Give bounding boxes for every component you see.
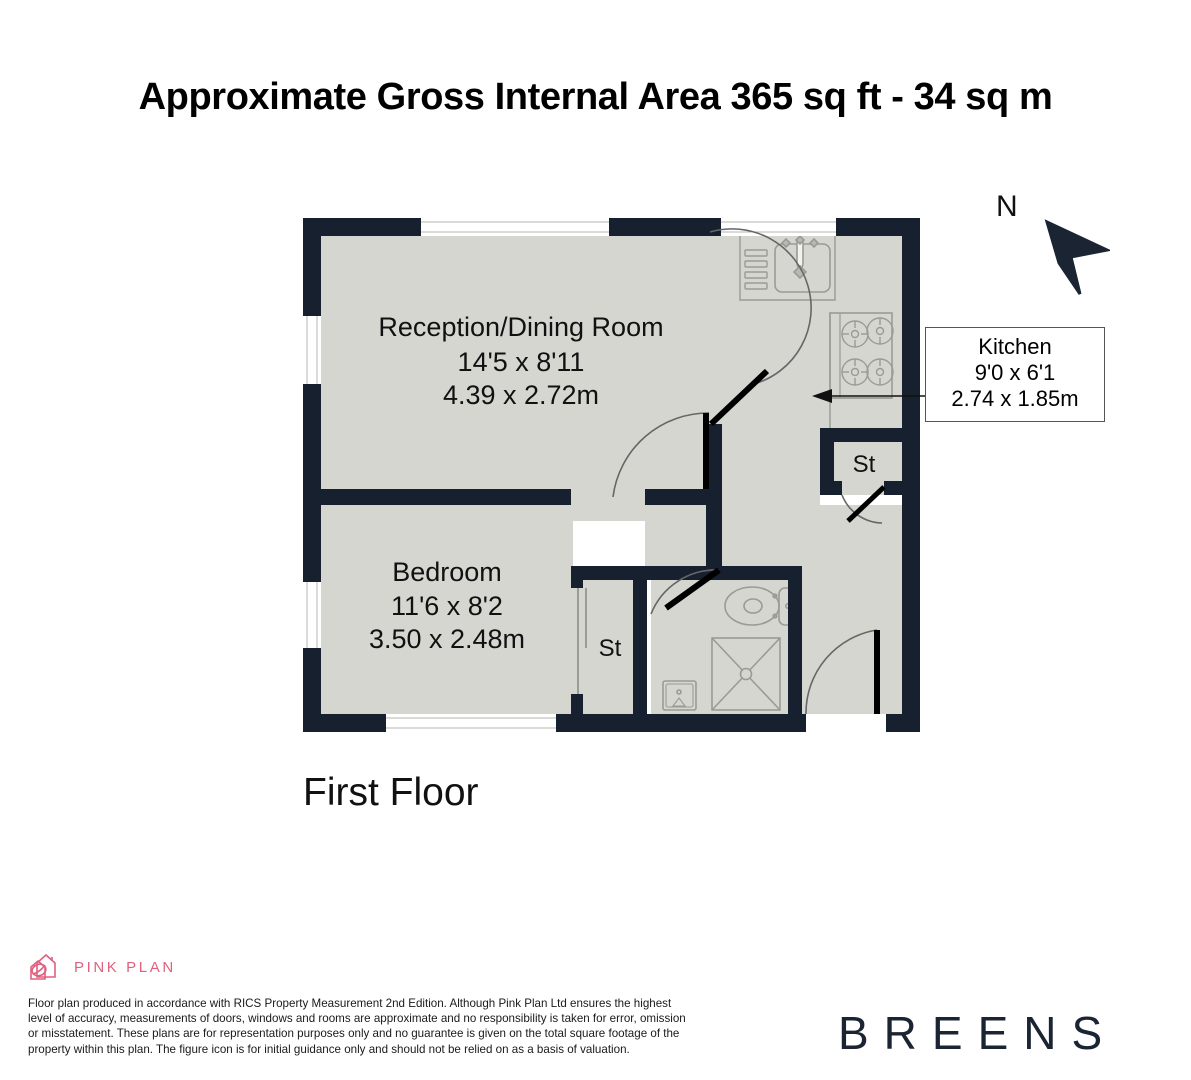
wall-st-upper-bottom-right xyxy=(884,481,920,495)
door-arc-bathroom xyxy=(651,570,719,614)
walls xyxy=(303,218,920,732)
entrance-lobby-floor xyxy=(801,505,919,714)
sink-drainer-icon xyxy=(745,250,767,289)
hob-unit xyxy=(830,313,892,398)
pink-plan-house-icon xyxy=(28,950,62,984)
wall-left-lower xyxy=(303,648,321,732)
shower-tray-icon xyxy=(712,638,780,710)
wall-st-lower-right xyxy=(633,566,647,716)
bedroom-floor xyxy=(321,505,573,714)
door-leaf-bathroom xyxy=(666,570,719,608)
window-reception-left xyxy=(303,316,321,384)
wall-top-mid xyxy=(609,218,721,236)
hall-floor-2 xyxy=(645,489,820,574)
door-arc-st-upper xyxy=(842,495,882,523)
st-lower-floor xyxy=(573,578,633,714)
door-arc-reception xyxy=(710,229,811,384)
storage-door-lines xyxy=(578,588,586,708)
bathroom-fixtures xyxy=(663,587,798,710)
kitchen-name: Kitchen xyxy=(934,334,1096,360)
hob-icon xyxy=(842,318,893,385)
doors xyxy=(613,229,884,714)
wall-st-upper-top xyxy=(820,428,919,442)
wall-hall-vertical-lower xyxy=(706,505,722,577)
floor-caption: First Floor xyxy=(303,771,479,815)
wall-left-middle xyxy=(303,384,321,582)
wall-bathroom-right xyxy=(788,580,802,716)
kitchen-floor xyxy=(722,236,920,489)
kitchen-fixtures xyxy=(740,236,893,489)
bedroom-metric: 3.50 x 2.48m xyxy=(369,624,525,654)
leader-arrow-icon xyxy=(812,389,832,403)
reception-dining-name: Reception/Dining Room xyxy=(378,312,663,342)
agency-brand: BREENS xyxy=(838,1006,1117,1060)
floor-plan-drawing: Reception/Dining Room 14'5 x 8'11 4.39 x… xyxy=(0,0,1191,1080)
wall-top-left xyxy=(303,218,421,236)
bathroom-floor xyxy=(651,578,801,714)
door-arc-entrance xyxy=(806,630,877,714)
wall-st-upper-left xyxy=(820,428,834,495)
bedroom-imperial: 11'6 x 8'2 xyxy=(391,591,503,621)
st-upper-label: St xyxy=(853,451,876,478)
wall-st-lower-left-bottom xyxy=(571,694,583,716)
toilet-icon xyxy=(725,587,779,625)
pink-plan-logo-text: PINK PLAN xyxy=(74,959,176,976)
sink-icon xyxy=(775,244,830,292)
door-leaf-st-upper xyxy=(848,487,884,521)
st-lower-label: St xyxy=(599,635,622,662)
sink-tap-icon xyxy=(782,236,818,278)
wall-st-lower-left xyxy=(571,566,583,588)
disclaimer-text: Floor plan produced in accordance with R… xyxy=(28,996,688,1057)
compass: N xyxy=(985,190,1110,300)
door-leaf-reception xyxy=(711,371,767,424)
wash-basin-icon xyxy=(663,681,696,710)
wall-st-upper-bottom-left xyxy=(820,481,842,495)
wall-right-mid xyxy=(902,440,920,590)
kitchen-metric: 2.74 x 1.85m xyxy=(934,386,1096,412)
page-title: Approximate Gross Internal Area 365 sq f… xyxy=(0,76,1191,119)
reception-dining-imperial: 14'5 x 8'11 xyxy=(458,347,585,377)
kitchen-leader-line xyxy=(812,389,925,403)
wall-st-lower-top xyxy=(571,566,646,580)
windows xyxy=(303,218,836,732)
wall-bathroom-top xyxy=(647,566,802,580)
wall-bottom-right xyxy=(886,714,920,732)
window-bedroom-left xyxy=(303,582,321,648)
hall-floor xyxy=(321,489,722,521)
wall-hall-vertical xyxy=(706,424,722,489)
kitchen-imperial: 9'0 x 6'1 xyxy=(934,360,1096,386)
compass-north-label: N xyxy=(996,190,1018,224)
reception-dining-floor xyxy=(321,236,722,489)
wall-top-right xyxy=(836,218,920,236)
window-bedroom-bottom xyxy=(386,714,556,732)
door-arc-bedroom xyxy=(613,413,709,497)
wall-right-upper xyxy=(902,218,920,440)
kitchen-worktop xyxy=(740,236,835,300)
wall-bottom-left xyxy=(303,714,386,732)
room-labels: Reception/Dining Room 14'5 x 8'11 4.39 x… xyxy=(369,312,876,662)
wall-reception-bedroom xyxy=(303,489,571,505)
window-reception-top xyxy=(421,218,609,236)
pink-plan-logo: PINK PLAN xyxy=(28,950,176,984)
window-kitchen-top xyxy=(721,218,836,236)
wall-hall-stub xyxy=(645,489,722,505)
wall-right-lower xyxy=(902,590,920,732)
st-upper-floor xyxy=(830,440,905,495)
room-fills xyxy=(321,236,920,714)
bedroom-name: Bedroom xyxy=(392,557,502,587)
wall-bottom-mid xyxy=(556,714,806,732)
toilet-cistern-icon xyxy=(779,588,798,625)
wall-left-upper xyxy=(303,218,321,316)
kitchen-callout-box: Kitchen 9'0 x 6'1 2.74 x 1.85m xyxy=(925,327,1105,422)
reception-dining-metric: 4.39 x 2.72m xyxy=(443,380,599,410)
